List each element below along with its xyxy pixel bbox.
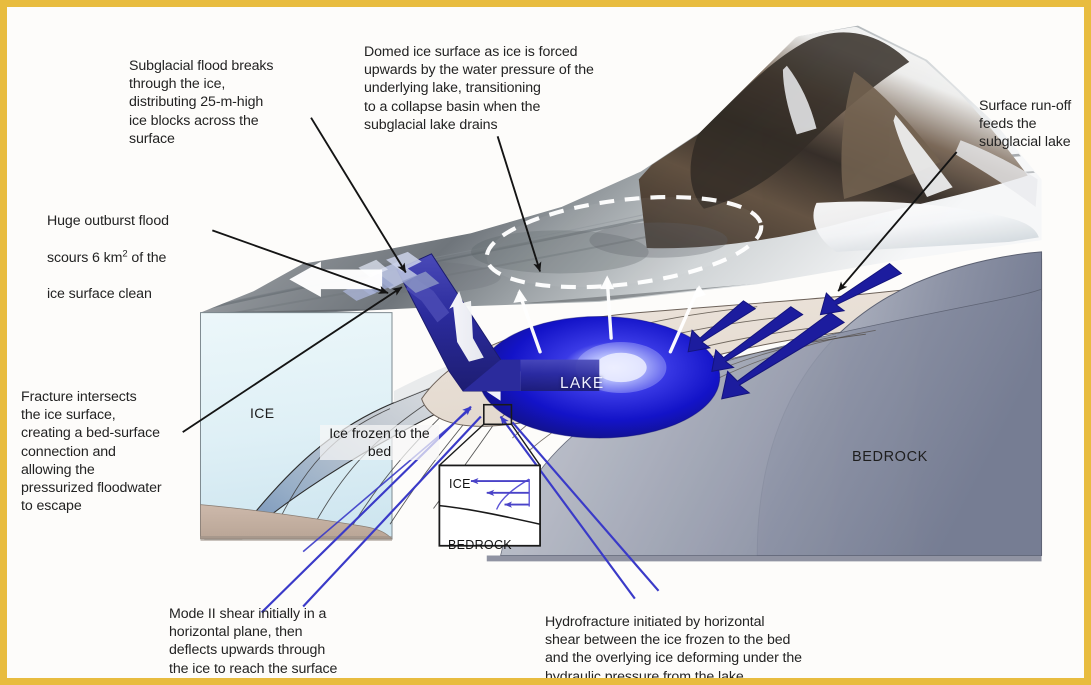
outburst-line-2-post: of the [128,250,167,266]
outburst-line-1: Huge outburst flood [47,213,169,229]
label-ice: ICE [250,405,275,421]
outburst-line-3: ice surface clean [47,286,152,302]
annotation-hydrofracture: Hydrofracture initiated by horizontal sh… [545,613,885,685]
annotation-surface-runoff: Surface run-off feeds the subglacial lak… [979,97,1091,152]
annotation-fracture-intersects: Fracture intersects the ice surface, cre… [21,388,206,515]
label-inset-ice: ICE [449,477,471,491]
figure-frame: Subglacial flood breaks through the ice,… [0,0,1091,685]
annotation-flood-breaks: Subglacial flood breaks through the ice,… [129,57,319,148]
annotation-domed-surface: Domed ice surface as ice is forced upwar… [364,43,664,134]
annotation-mode-ii-shear: Mode II shear initially in a horizontal … [169,605,419,678]
label-bedrock: BEDROCK [852,449,928,465]
label-ice-frozen-to-bed: Ice frozen to the bed [320,425,439,460]
label-inset-bedrock: BEDROCK [448,538,512,552]
outburst-line-2-pre: scours 6 km [47,250,122,266]
label-lake: LAKE [560,375,604,393]
annotation-outburst-scours: Huge outburst flood scours 6 km2 of the … [47,194,232,303]
